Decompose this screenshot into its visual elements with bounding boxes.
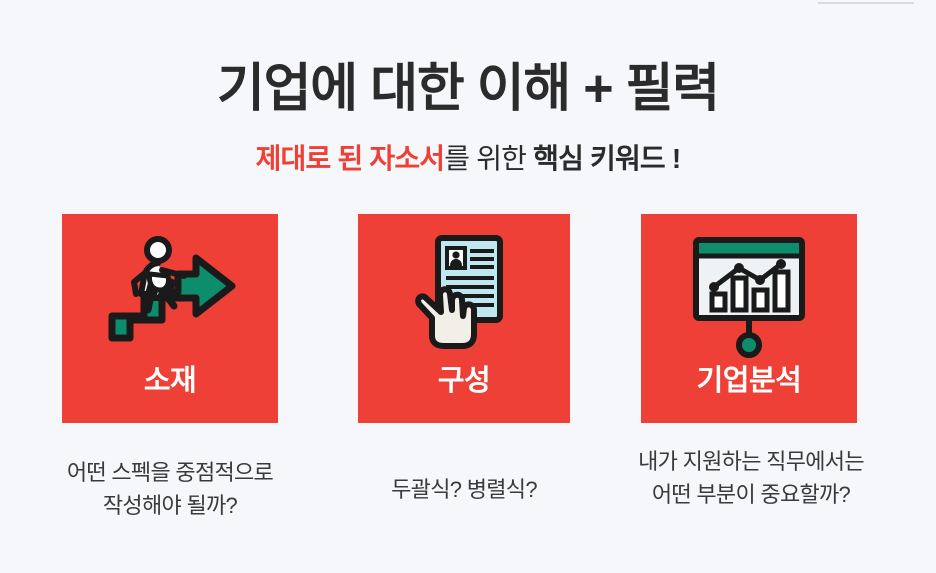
card-label-soje: 소재	[144, 364, 196, 398]
card-label-guseong: 구성	[438, 364, 490, 398]
caption-line: 두괄식? 병렬식?	[340, 473, 588, 506]
caption-line: 작성해야 될까?	[22, 489, 318, 522]
hand-holding-resume-icon	[404, 232, 524, 360]
caption-line: 어떤 스펙을 중점적으로	[22, 456, 318, 489]
card-row: 소재	[0, 214, 936, 424]
caption-row: 어떤 스펙을 중점적으로 작성해야 될까? 두괄식? 병렬식? 내가 지원하는 …	[0, 444, 936, 534]
card-gieopbunseok[interactable]: 기업분석	[641, 214, 857, 423]
subtitle-middle: 를 위한	[444, 143, 533, 174]
presentation-chart-board-icon	[684, 232, 814, 360]
card-label-gieopbunseok: 기업분석	[697, 364, 802, 398]
person-climbing-stairs-arrow-icon	[100, 232, 240, 360]
caption-soje: 어떤 스펙을 중점적으로 작성해야 될까?	[22, 456, 318, 522]
subtitle-highlight: 제대로 된 자소서	[256, 143, 445, 174]
top-divider-artifact	[818, 2, 914, 4]
subtitle-tail: 핵심 키워드 !	[533, 143, 680, 174]
card-guseong[interactable]: 구성	[358, 214, 570, 423]
caption-line: 어떤 부분이 중요할까?	[600, 478, 902, 511]
infographic-page: 기업에 대한 이해 + 필력 제대로 된 자소서를 위한 핵심 키워드 !	[0, 0, 936, 573]
caption-line: 내가 지원하는 직무에서는	[600, 445, 902, 478]
caption-guseong: 두괄식? 병렬식?	[340, 473, 588, 506]
page-subtitle: 제대로 된 자소서를 위한 핵심 키워드 !	[0, 140, 936, 178]
caption-gieopbunseok: 내가 지원하는 직무에서는 어떤 부분이 중요할까?	[600, 445, 902, 511]
card-soje[interactable]: 소재	[62, 214, 278, 423]
page-title: 기업에 대한 이해 + 필력	[0, 58, 936, 120]
